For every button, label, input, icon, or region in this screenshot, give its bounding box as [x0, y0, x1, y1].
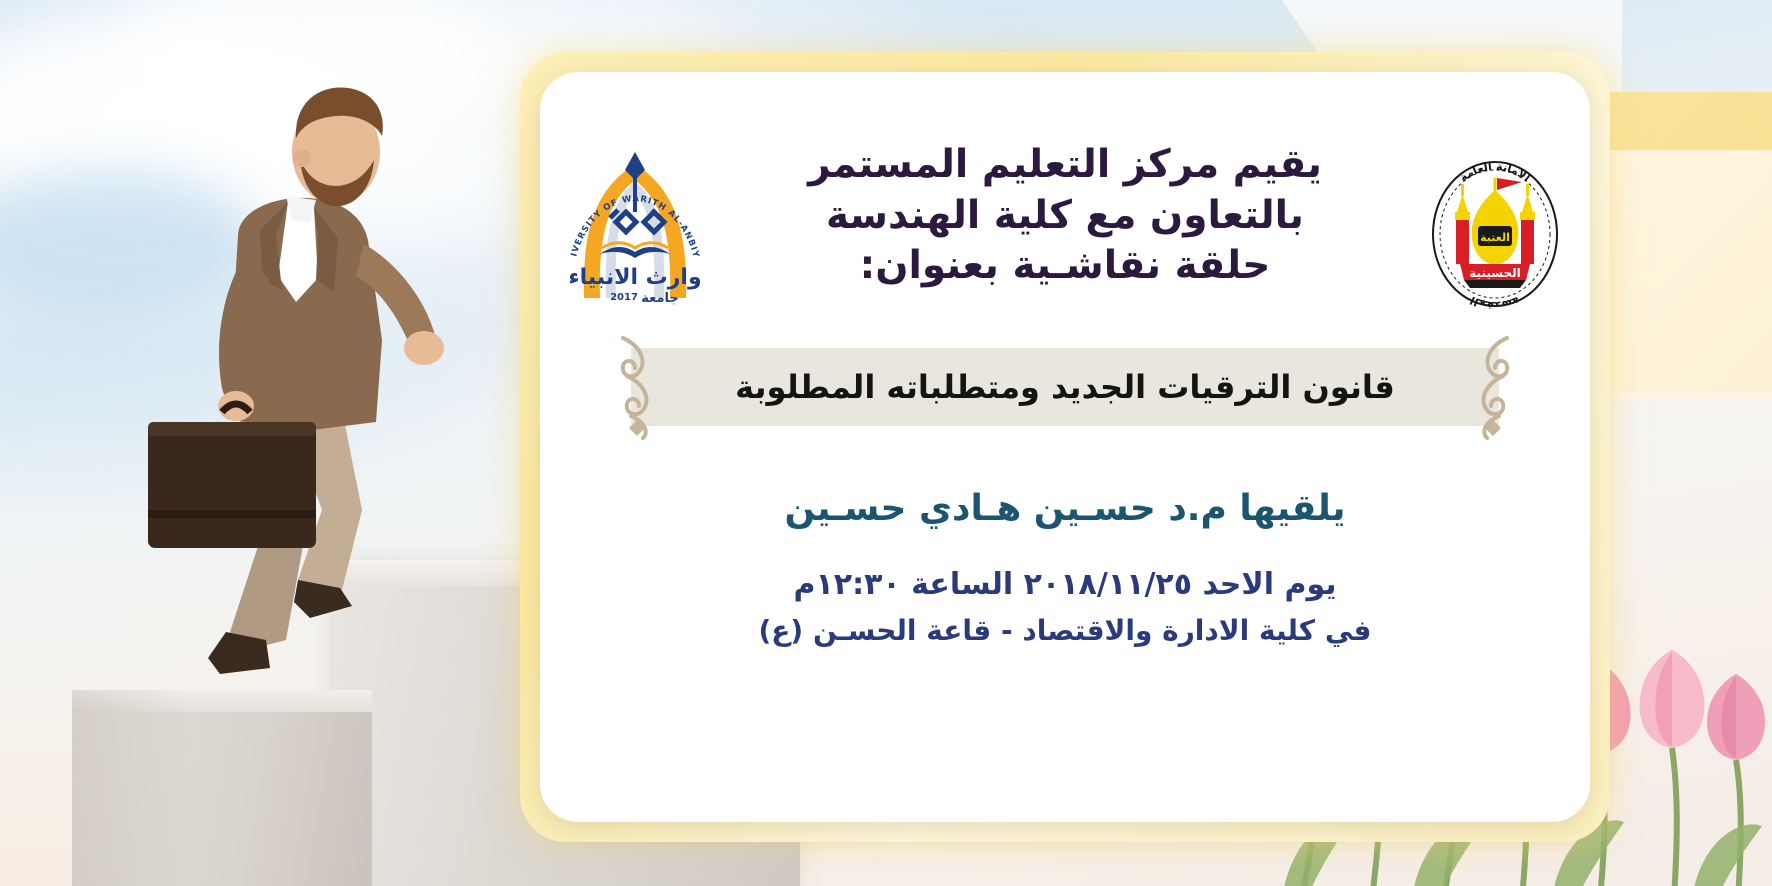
session-title-banner: قانون الترقيات الجديد ومتطلباته المطلوبة — [631, 348, 1499, 426]
svg-text:الحسينية: الحسينية — [1469, 266, 1520, 280]
page-title: يقيم مركز التعليم المستمر بالتعاون مع كل… — [710, 140, 1420, 292]
university-of-warith-al-anbiyaa-logo: UNIVERSITY OF WARITH AL-ANBIYAA وارث الا… — [560, 148, 710, 308]
svg-text:2017: 2017 — [610, 292, 638, 303]
poster-content: الامانة العامة المقدسة — [560, 96, 1570, 806]
heading-line-1: يقيم مركز التعليم المستمر — [714, 140, 1416, 191]
svg-text:جامعة: جامعة — [641, 291, 679, 306]
event-poster: الامانة العامة المقدسة — [0, 0, 1772, 886]
event-venue: في كلية الادارة والاقتصاد - قاعة الحسـن … — [758, 614, 1371, 647]
svg-text:المقدسة: المقدسة — [1468, 293, 1522, 312]
heading-line-2: بالتعاون مع كلية الهندسة — [714, 191, 1416, 242]
businessman-figure — [90, 40, 510, 720]
ornament-right-icon — [1463, 332, 1525, 442]
svg-text:وارث الانبياء: وارث الانبياء — [568, 265, 701, 290]
speaker-name: يلقيها م.د حسـين هـادي حسـين — [785, 488, 1346, 529]
ornament-left-icon — [605, 332, 667, 442]
heading-row: الامانة العامة المقدسة — [560, 140, 1570, 314]
heading-line-3: حلقة نقاشـية بعنوان: — [714, 241, 1416, 292]
al-abbas-holy-shrine-logo: الامانة العامة المقدسة — [1420, 154, 1570, 314]
event-datetime: يوم الاحد ٢٠١٨/١١/٢٥ الساعة ١٢:٣٠م — [793, 567, 1336, 602]
session-title: قانون الترقيات الجديد ومتطلباته المطلوبة — [735, 368, 1395, 406]
svg-text:العتبة: العتبة — [1480, 231, 1510, 244]
